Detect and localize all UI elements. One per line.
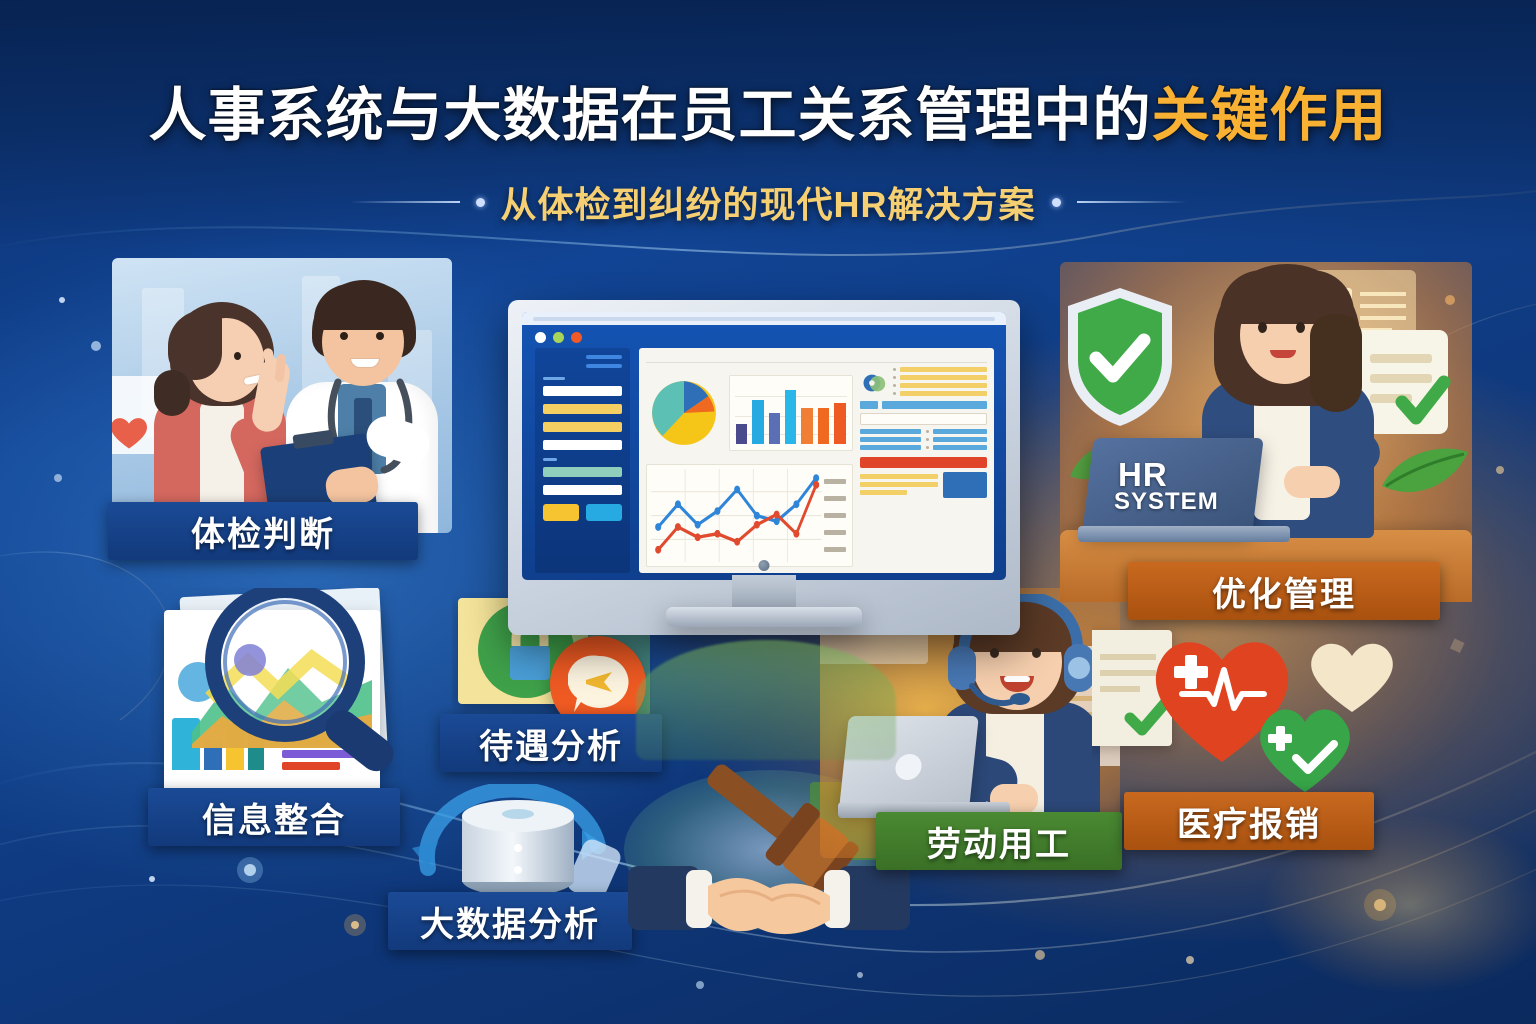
page-title-accent: 关键作用	[1152, 83, 1388, 148]
caption-data-integration: 信息整合	[148, 788, 400, 846]
shield-check-icon	[1060, 284, 1180, 430]
monitor-power-led	[759, 560, 770, 571]
data-report-scene	[150, 588, 436, 818]
sidebar-chip-1[interactable]	[543, 504, 579, 521]
monitor-base	[666, 607, 862, 627]
pie-chart	[646, 375, 722, 451]
dashboard-sidebar[interactable]	[535, 348, 630, 573]
dashboard-side-panel	[860, 369, 987, 567]
address-bar[interactable]	[533, 317, 995, 321]
sidebar-row-5[interactable]	[543, 467, 622, 477]
poster-canvas: 人事系统与大数据在员工关系管理中的关键作用 从体检到纠纷的现代HR解决方案	[0, 0, 1536, 1024]
sidebar-row-3[interactable]	[543, 422, 622, 432]
health-claim-scene	[1092, 620, 1398, 820]
dashboard-screen[interactable]	[522, 312, 1006, 580]
handshake-icon	[628, 840, 910, 960]
donut-chart	[860, 369, 888, 397]
page-title-main: 人事系统与大数据在员工关系管理中的	[148, 83, 1151, 148]
dashboard-toolbar	[646, 354, 987, 363]
sidebar-mini-2	[586, 364, 622, 368]
sidebar-row-6[interactable]	[543, 485, 622, 495]
sidebar-row-2[interactable]	[543, 404, 622, 414]
subtitle-dot-left	[476, 198, 485, 207]
chat-bubble-icon	[568, 654, 630, 714]
page-subtitle: 从体检到纠纷的现代HR解决方案	[501, 176, 1036, 228]
leaf-icon	[1376, 440, 1472, 510]
caption-labor-use: 劳动用工	[876, 812, 1122, 870]
monitor-neck	[732, 575, 796, 609]
page-title: 人事系统与大数据在员工关系管理中的关键作用	[0, 68, 1536, 152]
panel-input[interactable]	[860, 413, 987, 425]
window-controls[interactable]	[522, 325, 1006, 348]
green-heart-check-icon	[1252, 700, 1358, 796]
subtitle-rule-left	[350, 201, 460, 203]
window-dot-2[interactable]	[553, 332, 564, 343]
subtitle-dot-right	[1052, 198, 1061, 207]
laptop-brand-line1: HR	[1118, 458, 1168, 491]
bar-chart	[729, 375, 853, 451]
line-chart	[646, 464, 853, 567]
window-dot-1[interactable]	[535, 332, 546, 343]
hr-officer-scene: HR SYSTEM	[1060, 262, 1472, 602]
subtitle-row: 从体检到纠纷的现代HR解决方案	[0, 176, 1536, 228]
heart-icon	[112, 410, 152, 454]
dashboard-main	[639, 348, 994, 573]
doctor-figure	[280, 280, 448, 533]
sidebar-mini-1	[586, 355, 622, 359]
caption-big-data: 大数据分析	[388, 892, 632, 950]
laptop-brand-line2: SYSTEM	[1114, 490, 1219, 514]
caption-optimize-process: 优化管理	[1128, 562, 1440, 620]
panel-alert-bar	[860, 457, 987, 468]
subtitle-rule-right	[1077, 201, 1187, 203]
monitor-ground-glow	[636, 640, 896, 760]
browser-chrome	[522, 312, 1006, 325]
sidebar-row-1[interactable]	[543, 386, 622, 396]
sidebar-chip-2[interactable]	[586, 504, 622, 521]
sidebar-row-4[interactable]	[543, 440, 622, 450]
magnifier-icon	[192, 588, 428, 790]
hr-laptop: HR SYSTEM	[1078, 438, 1282, 546]
line-chart-legend	[822, 469, 848, 562]
caption-medical-exam: 体检判断	[108, 502, 418, 560]
caption-health-claim: 医疗报销	[1124, 792, 1374, 850]
window-dot-3[interactable]	[571, 332, 582, 343]
medical-exam-scene	[112, 258, 452, 533]
panel-thumbnail	[943, 472, 987, 498]
dashboard-monitor	[508, 300, 1020, 635]
